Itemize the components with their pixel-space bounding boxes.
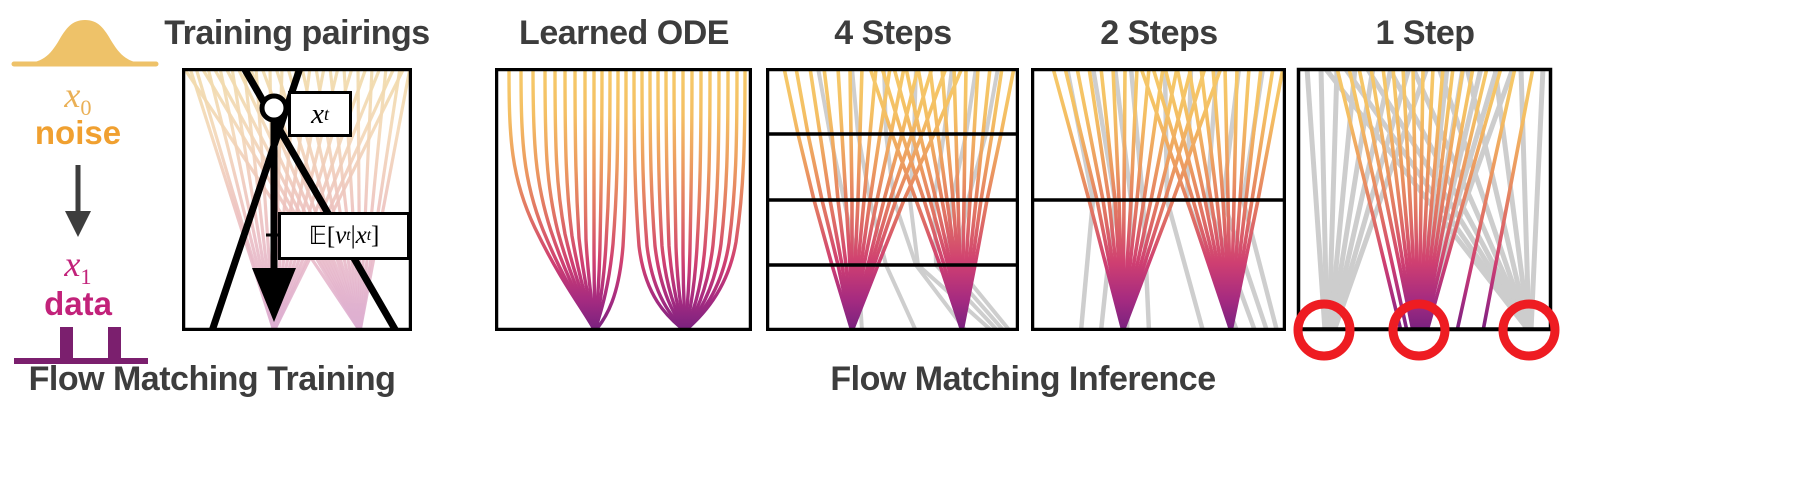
gaussian-noise-curve [10,12,160,74]
panel-learned-ode [495,68,752,331]
flow-matching-figure: x0 noise x1 data Training pairings Learn… [0,0,1800,479]
panel-title-1-step: 1 Step [1375,14,1474,53]
noise-label: noise [35,114,121,152]
learned-ode-plot [495,68,752,331]
panel-1-step [1297,68,1552,331]
one-step-plot [1297,68,1552,353]
data-label: data [44,285,112,323]
panel-title-2-steps: 2 Steps [1100,14,1217,53]
downward-arrow-icon [56,163,100,241]
panel-4-steps [766,68,1019,331]
noise-to-data-legend: x0 noise x1 data [0,0,165,360]
panel-training-pairings: xt 𝔼[vt|xt] [182,68,412,331]
four-steps-plot [766,68,1019,331]
panel-2-steps [1031,68,1286,331]
caption-flow-matching-training: Flow Matching Training [29,360,396,399]
annotation-box-xt: xt [288,91,352,137]
annotation-box-expected-velocity: 𝔼[vt|xt] [278,212,410,260]
two-steps-plot [1031,68,1286,331]
panel-title-4-steps: 4 Steps [834,14,951,53]
panel-title-training-pairings: Training pairings [164,14,429,53]
panel-title-learned-ode: Learned ODE [519,14,729,53]
x1-symbol: x1 [64,243,91,290]
caption-flow-matching-inference: Flow Matching Inference [830,360,1215,399]
